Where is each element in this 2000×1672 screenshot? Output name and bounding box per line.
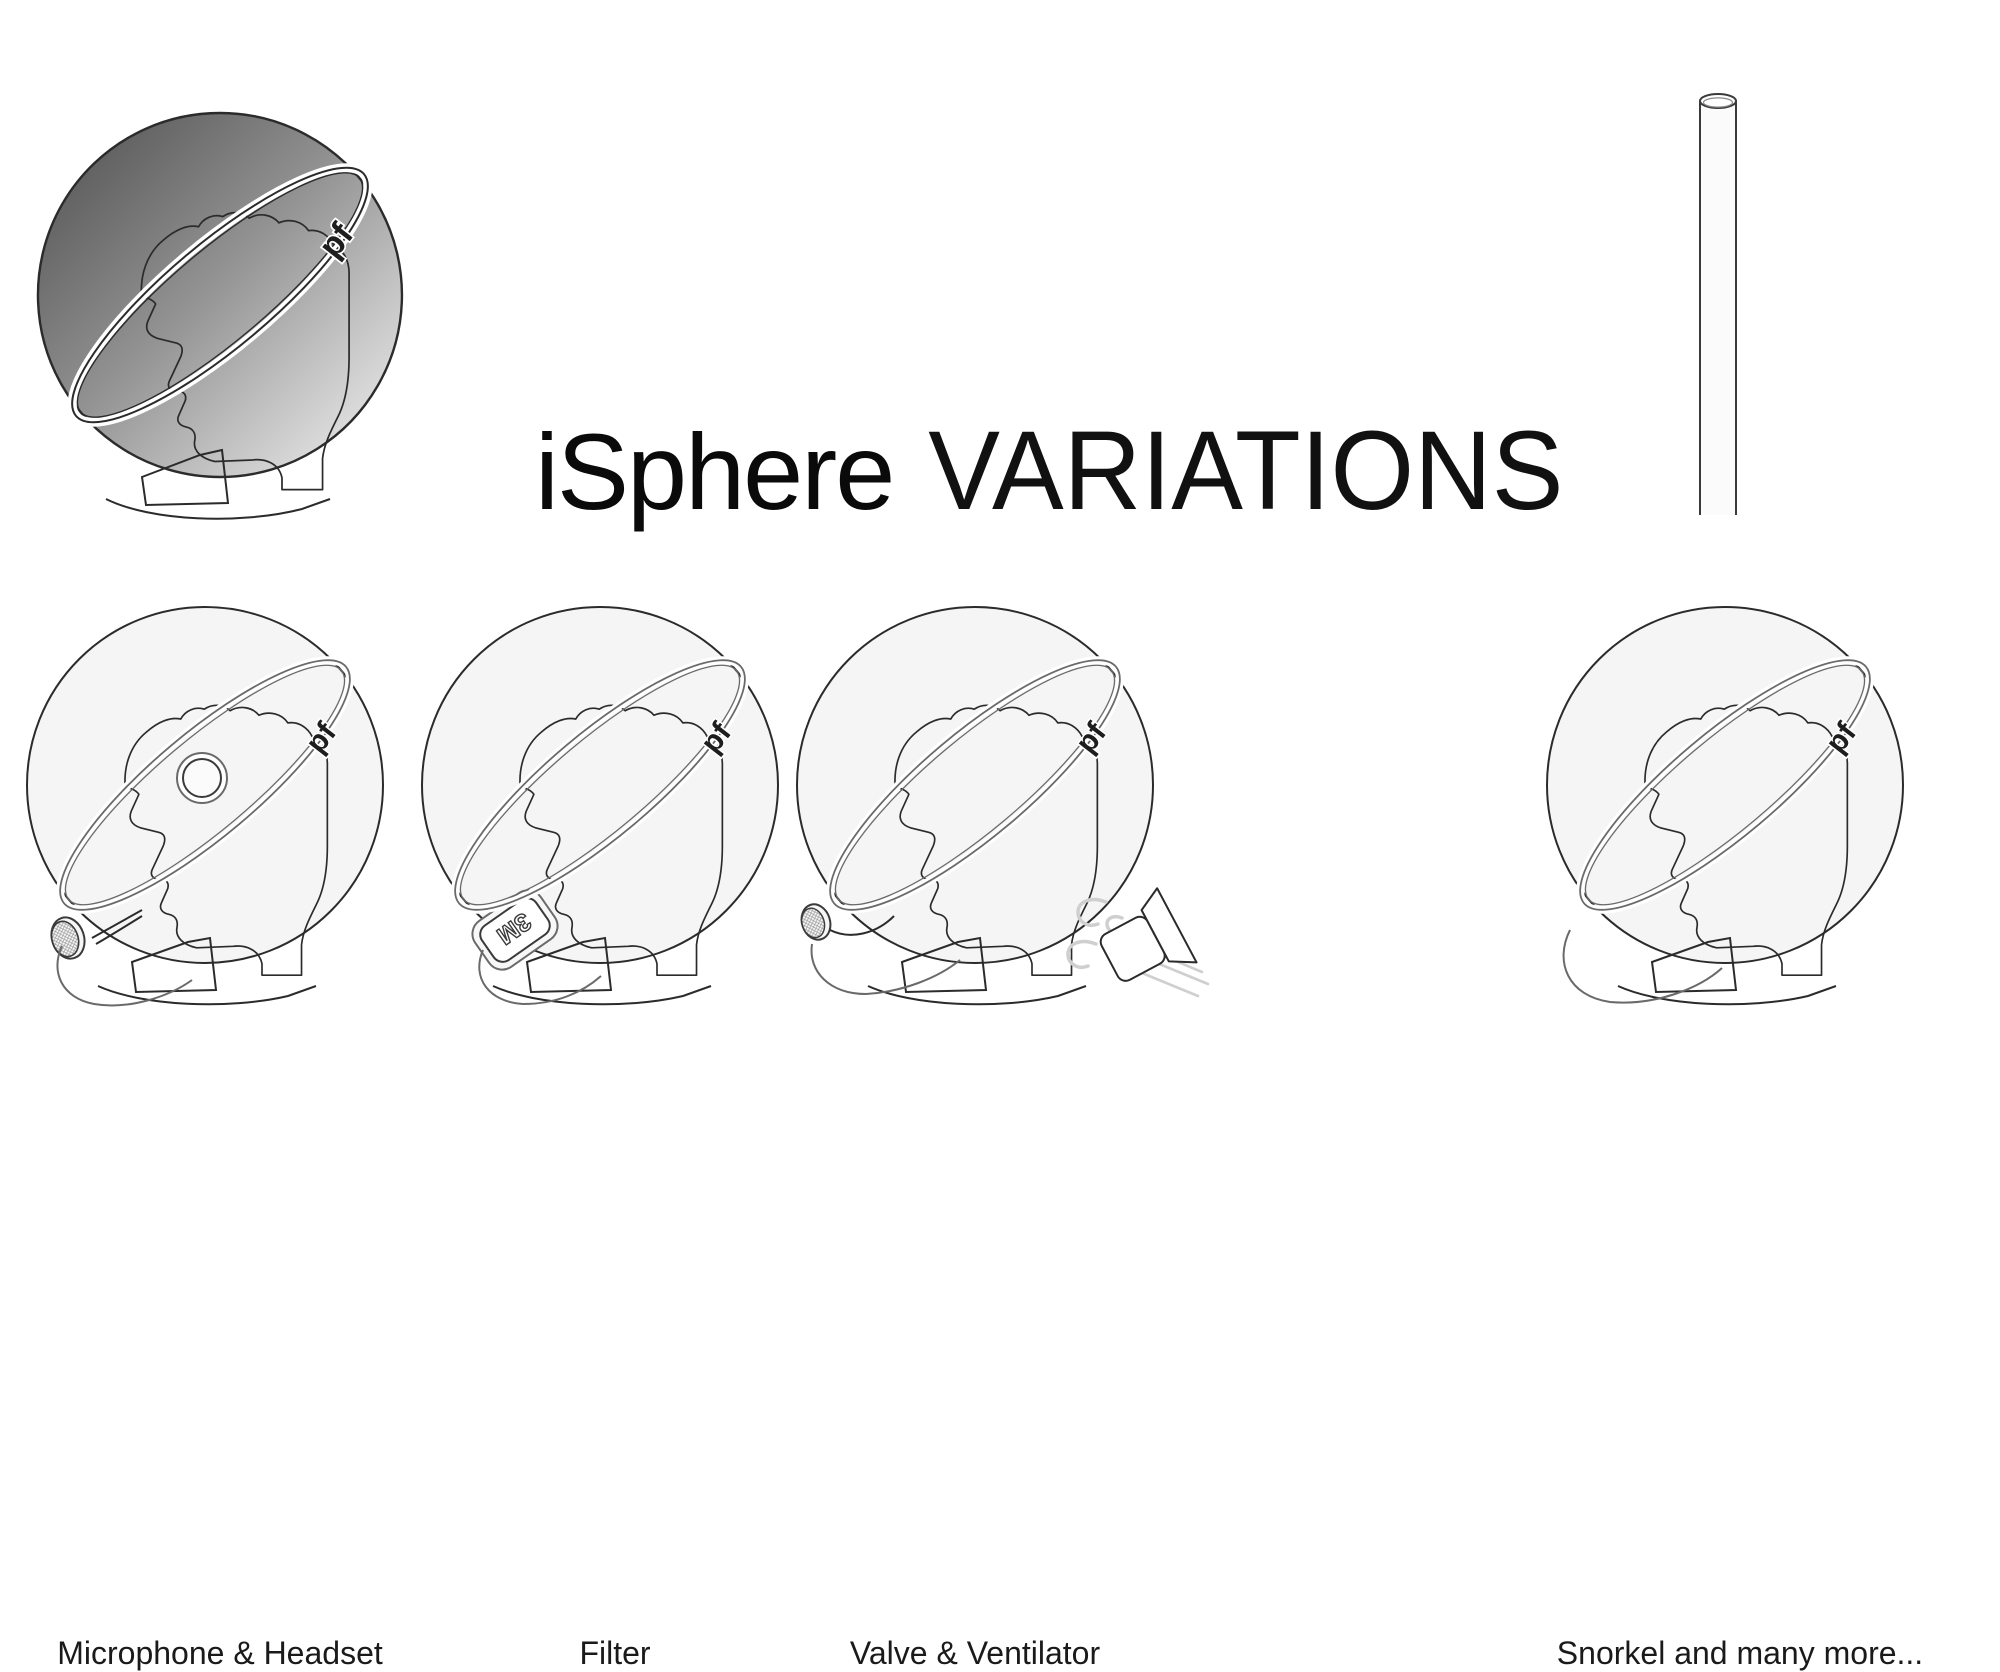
snorkel-tube-icon — [1690, 85, 1750, 515]
poster-canvas: iSphere VARIATIONS — [0, 0, 2000, 1200]
filter-illustration: 3M pf — [415, 600, 815, 1020]
page-title: iSphere VARIATIONS — [535, 415, 1375, 525]
earcup-icon — [177, 753, 227, 803]
caption-filter: Filter — [415, 1635, 815, 1672]
caption-microphone-headset: Microphone & Headset — [20, 1635, 420, 1672]
title-suffix: VARIATIONS — [929, 415, 1564, 527]
title-brand: iSphere — [535, 418, 893, 526]
variation-snorkel[interactable]: pf Snorkel and many more... — [1540, 600, 1940, 1080]
microphone-headset-illustration: pf — [20, 600, 420, 1020]
shade-sphere-illustration: pf — [30, 105, 410, 565]
variation-microphone-headset[interactable]: pf Microphone & Headset — [20, 600, 420, 1080]
variation-filter[interactable]: 3M pf Filter — [415, 600, 815, 1080]
caption-valve-ventilator: Valve & Ventilator — [790, 1635, 1160, 1672]
variation-shade[interactable]: pf Shade — [30, 105, 410, 605]
snorkel-sphere-illustration: pf — [1540, 600, 1940, 1020]
variation-valve-ventilator[interactable]: pf Valve & Ventilator — [790, 600, 1230, 1080]
caption-snorkel: Snorkel and many more... — [1540, 1635, 1940, 1672]
valve-ventilator-illustration: pf — [790, 600, 1230, 1020]
